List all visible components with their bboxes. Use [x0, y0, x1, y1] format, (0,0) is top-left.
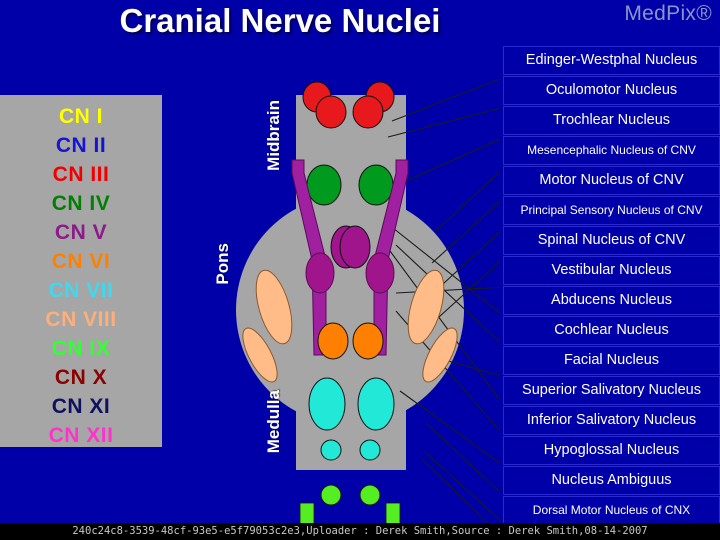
nucleus-label-facial-nucleus[interactable]: Facial Nucleus	[503, 346, 720, 375]
nucleus-label-motor-nucleus-of-cnv[interactable]: Motor Nucleus of CNV	[503, 166, 720, 195]
nucleus-label-nucleus-ambiguus[interactable]: Nucleus Ambiguus	[503, 466, 720, 495]
legend-item-cn-ii: CN II	[0, 131, 162, 160]
nucleus-label-list: Edinger-Westphal NucleusOculomotor Nucle…	[503, 46, 720, 540]
region-label-pons: Pons	[213, 243, 233, 285]
medpix-watermark: MedPix®	[624, 2, 712, 26]
nucleus-label-oculomotor-nucleus[interactable]: Oculomotor Nucleus	[503, 76, 720, 105]
nucleus-label-principal-sensory-nucleus-of-cnv[interactable]: Principal Sensory Nucleus of CNV	[503, 196, 720, 225]
image-caption: 240c24c8-3539-48cf-93e5-e5f79053c2e3,Upl…	[0, 523, 720, 540]
nucleus-label-abducens-nucleus[interactable]: Abducens Nucleus	[503, 286, 720, 315]
legend-item-cn-xi: CN XI	[0, 392, 162, 421]
nucleus-label-inferior-salivatory-nucleus[interactable]: Inferior Salivatory Nucleus	[503, 406, 720, 435]
legend-item-cn-vii: CN VII	[0, 276, 162, 305]
nucleus-label-superior-salivatory-nucleus[interactable]: Superior Salivatory Nucleus	[503, 376, 720, 405]
cranial-nerve-legend: CN ICN IICN IIICN IVCN VCN VICN VIICN VI…	[0, 95, 162, 447]
brainstem-diagram	[200, 55, 500, 525]
medulla-columns	[300, 503, 400, 525]
legend-item-cn-iii: CN III	[0, 160, 162, 189]
nucleus-label-spinal-nucleus-of-cnv[interactable]: Spinal Nucleus of CNV	[503, 226, 720, 255]
legend-item-cn-v: CN V	[0, 218, 162, 247]
legend-item-cn-ix: CN IX	[0, 334, 162, 363]
nucleus-label-hypoglossal-nucleus[interactable]: Hypoglossal Nucleus	[503, 436, 720, 465]
nucleus-label-dorsal-motor-nucleus-of-cnx[interactable]: Dorsal Motor Nucleus of CNX	[503, 496, 720, 525]
legend-item-cn-i: CN I	[0, 102, 162, 131]
legend-item-cn-viii: CN VIII	[0, 305, 162, 334]
nucleus-label-vestibular-nucleus[interactable]: Vestibular Nucleus	[503, 256, 720, 285]
legend-item-cn-xii: CN XII	[0, 421, 162, 450]
nucleus-label-trochlear-nucleus[interactable]: Trochlear Nucleus	[503, 106, 720, 135]
legend-item-cn-vi: CN VI	[0, 247, 162, 276]
slide-canvas: Cranial Nerve Nuclei MedPix® CN ICN IICN…	[0, 0, 720, 540]
nucleus-label-edinger-westphal-nucleus[interactable]: Edinger-Westphal Nucleus	[503, 46, 720, 75]
page-title: Cranial Nerve Nuclei	[0, 2, 560, 40]
legend-item-cn-iv: CN IV	[0, 189, 162, 218]
nuclei-bright-green	[321, 485, 380, 505]
nucleus-label-cochlear-nucleus[interactable]: Cochlear Nucleus	[503, 316, 720, 345]
nucleus-label-mesencephalic-nucleus-of-cnv[interactable]: Mesencephalic Nucleus of CNV	[503, 136, 720, 165]
region-label-medulla: Medulla	[264, 390, 284, 453]
legend-item-cn-x: CN X	[0, 363, 162, 392]
region-label-midbrain: Midbrain	[264, 100, 284, 171]
